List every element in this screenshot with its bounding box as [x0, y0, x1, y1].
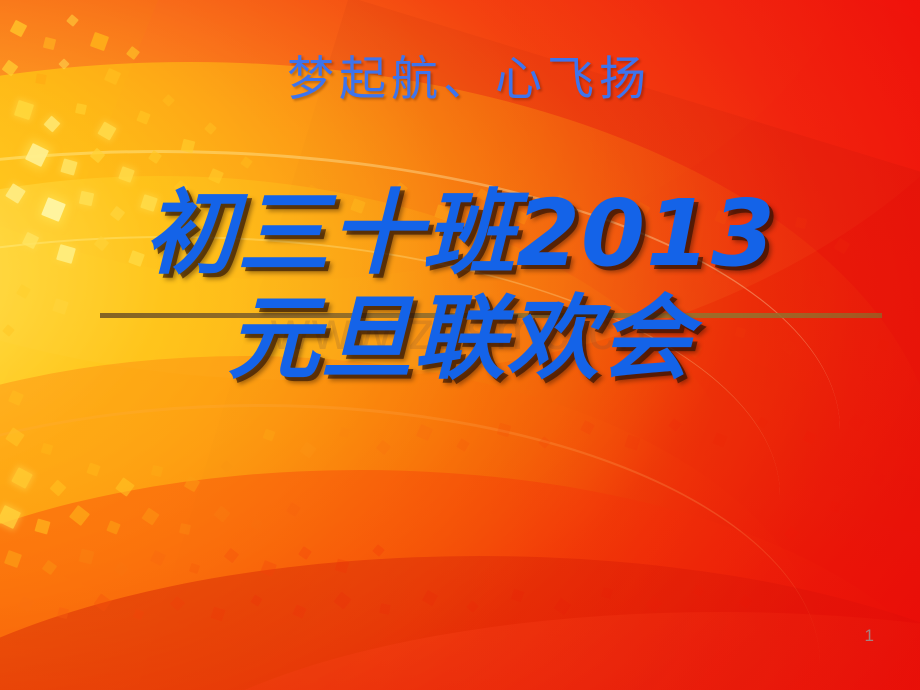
page-number: 1 [865, 626, 874, 646]
slide-subtitle: 梦起航、心飞扬 [0, 56, 920, 103]
presentation-slide: www.zzsmc.cn 梦起航、心飞扬 初三十班2013 元旦联欢会 1 [0, 0, 920, 690]
title-divider-rule [100, 313, 882, 318]
